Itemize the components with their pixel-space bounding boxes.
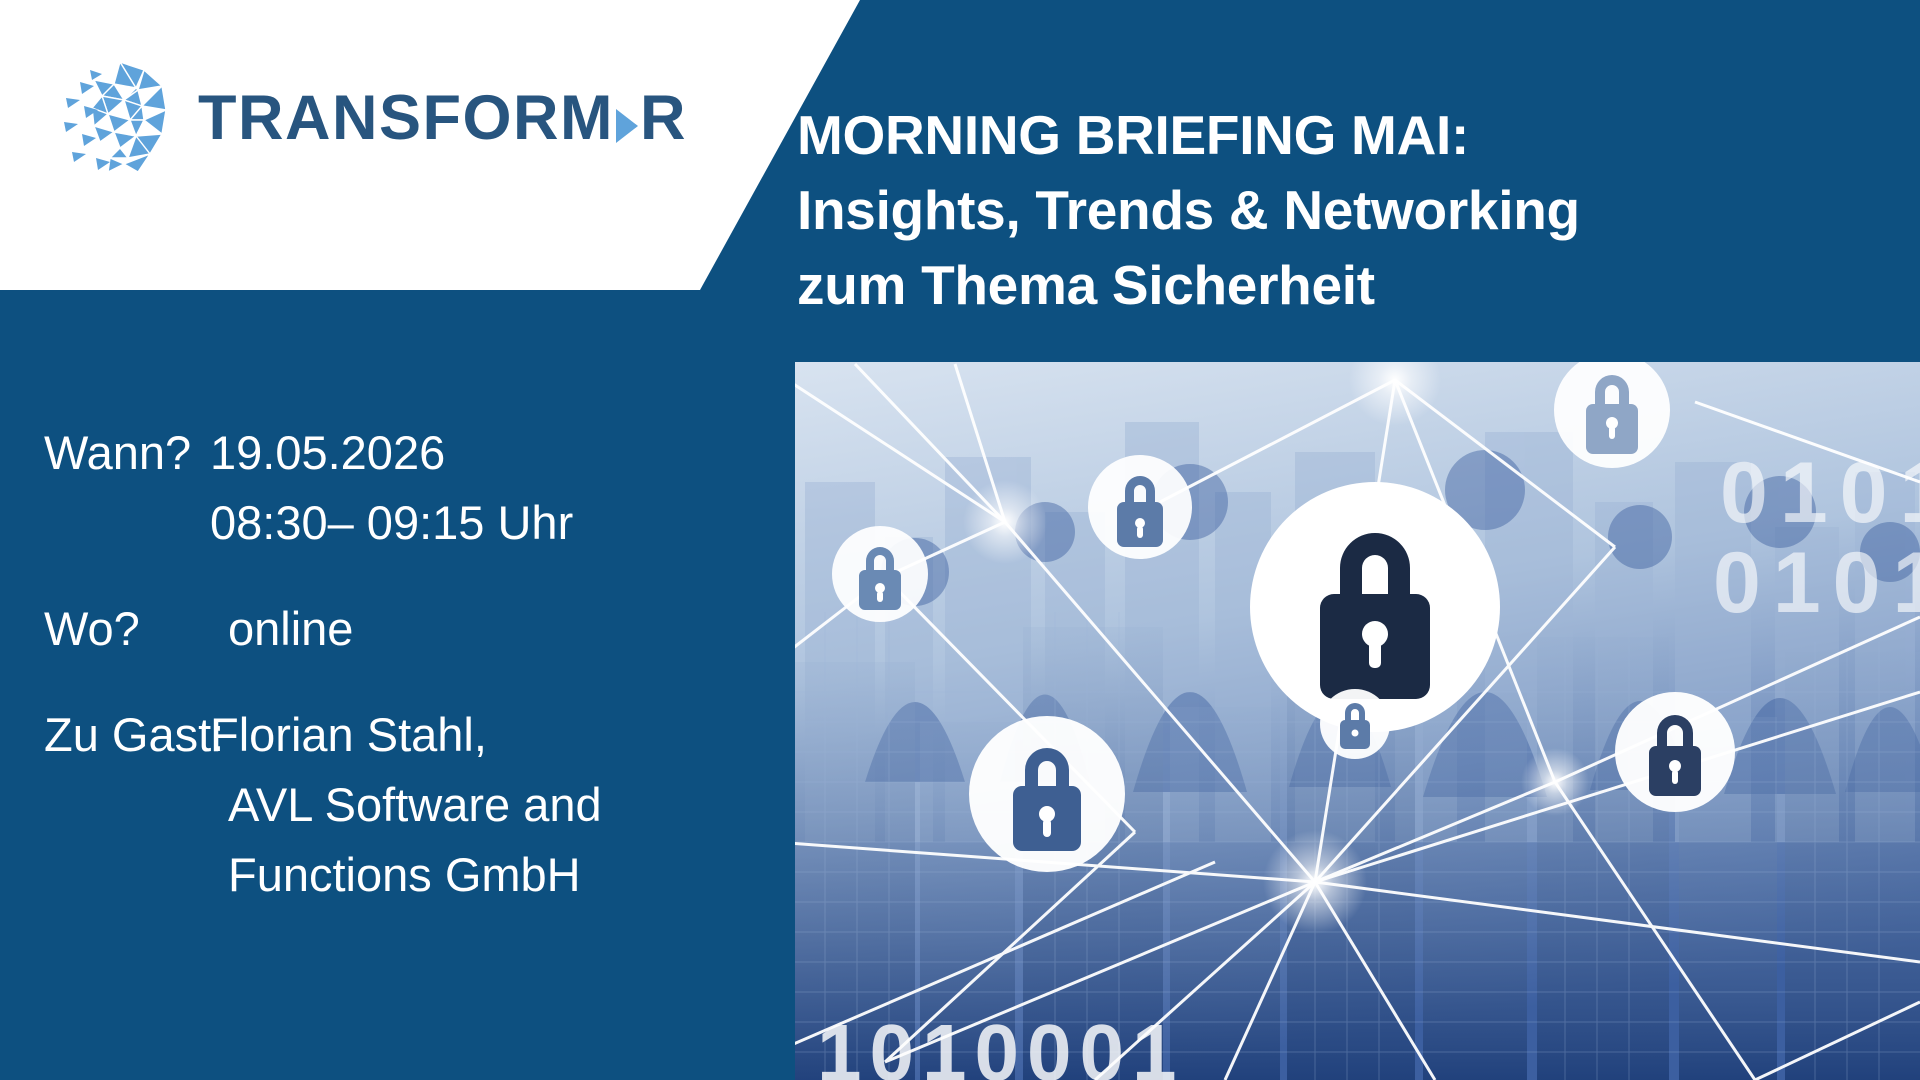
polygonal-head-icon (58, 54, 186, 182)
padlock-icon-bottom-right (1615, 692, 1735, 812)
detail-row-where: Wo? online (0, 594, 790, 664)
brand-logo: TRANSFORM R (58, 48, 678, 188)
detail-values-where: online (210, 594, 790, 664)
hero-photo: 01011 01010 1010001 (795, 362, 1920, 1080)
svg-text:01011: 01011 (1720, 445, 1920, 541)
event-title: MORNING BRIEFING MAI: Insights, Trends &… (797, 98, 1877, 323)
detail-value-location: online (210, 594, 790, 664)
detail-label-when: Wann? (0, 422, 210, 484)
detail-values-when: 19.05.2026 08:30– 09:15 Uhr (210, 418, 790, 558)
svg-text:1010001: 1010001 (817, 1008, 1184, 1080)
detail-value-guest-company-1: AVL Software and (210, 770, 790, 840)
padlock-icon-left (832, 526, 928, 622)
logo-text-tail: R (640, 87, 687, 150)
detail-label-where: Wo? (0, 598, 210, 660)
detail-value-date: 19.05.2026 (210, 418, 790, 488)
svg-text:01010: 01010 (1713, 535, 1920, 631)
detail-values-guest: Florian Stahl, AVL Software and Function… (210, 700, 790, 910)
event-details: Wann? 19.05.2026 08:30– 09:15 Uhr Wo? on… (0, 418, 790, 946)
logo-wordmark: TRANSFORM R (198, 87, 687, 150)
title-line-1: MORNING BRIEFING MAI: (797, 98, 1877, 173)
play-triangle-icon (616, 109, 638, 143)
detail-value-guest-company-2: Functions GmbH (210, 840, 790, 910)
padlock-icon-bottom-left (969, 716, 1125, 872)
logo-text-main: TRANSFORM (198, 87, 614, 150)
detail-row-when: Wann? 19.05.2026 08:30– 09:15 Uhr (0, 418, 790, 558)
detail-value-guest-name: Florian Stahl, (210, 700, 790, 770)
detail-value-time: 08:30– 09:15 Uhr (210, 488, 790, 558)
padlock-icon-small-lower (1320, 689, 1390, 759)
detail-row-guest: Zu Gast: Florian Stahl, AVL Software and… (0, 700, 790, 910)
padlock-icon-large (1250, 482, 1500, 732)
poster-canvas: 01011 01010 1010001 (0, 0, 1920, 1080)
detail-label-guest: Zu Gast: (0, 704, 210, 766)
padlock-icon-mid (1088, 455, 1192, 559)
hero-photo-graphic: 01011 01010 1010001 (795, 362, 1920, 1080)
title-line-3: zum Thema Sicherheit (797, 248, 1877, 323)
title-line-2: Insights, Trends & Networking (797, 173, 1877, 248)
